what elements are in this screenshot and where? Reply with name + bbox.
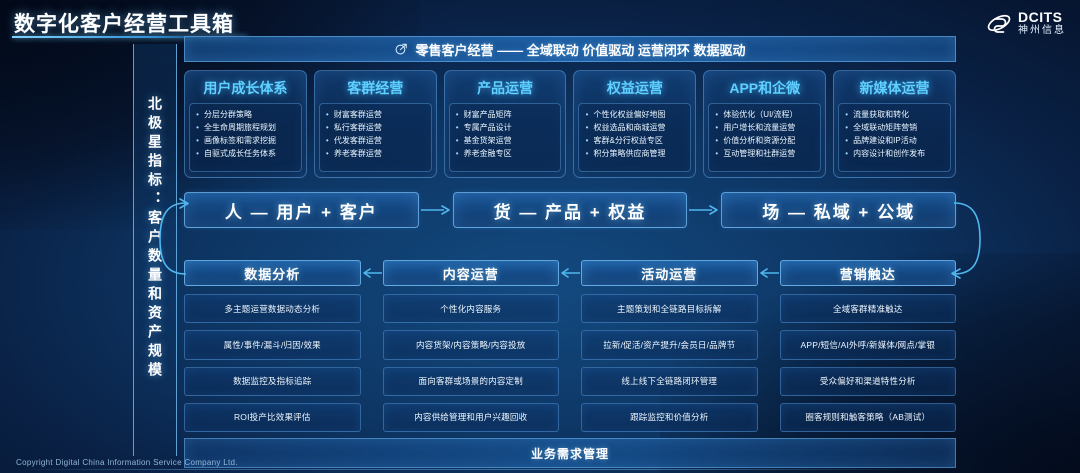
pillar-box[interactable]: 货 — 产品 + 权益	[453, 192, 688, 228]
bottom-bar-label: 业务需求管理	[531, 445, 609, 462]
category-card-item-label: 画像标签和需求挖掘	[204, 134, 276, 147]
bullet-dot-icon: •	[583, 121, 590, 134]
category-card[interactable]: APP和企微•体验优化（UI/流程）•用户增长和流量运营•价值分析和资源分配•互…	[703, 70, 826, 178]
category-card-item: •体验优化（UI/流程）	[713, 108, 817, 121]
dcits-swirl-icon	[986, 12, 1012, 34]
headline-banner-text: 零售客户经营 —— 全域联动 价值驱动 运营闭环 数据驱动	[415, 40, 745, 59]
category-card-item-label: 品牌建设和IP活动	[853, 134, 917, 147]
logo-subtitle: 神州信息	[1018, 26, 1066, 36]
operation-detail-cell[interactable]: 个性化内容服务	[383, 294, 560, 323]
operation-detail-cell[interactable]: 属性/事件/漏斗/归因/效果	[184, 330, 361, 359]
bullet-dot-icon: •	[324, 121, 331, 134]
category-card-title: APP和企微	[708, 75, 821, 103]
category-card-item: •私行客群运营	[324, 121, 428, 134]
category-card-items: •个性化权益偏好地图•权益选品和商城运营•客群&分行权益专区•积分策略供应商管理	[578, 103, 691, 172]
category-card-title: 新媒体运营	[838, 75, 951, 103]
bullet-dot-icon: •	[843, 134, 850, 147]
bullet-dot-icon: •	[583, 147, 590, 160]
category-card-item: •积分策略供应商管理	[583, 147, 687, 160]
category-card-item-label: 流量获取和转化	[853, 108, 909, 121]
category-card-items: •财富产品矩阵•专属产品设计•基金货架运营•养老金融专区	[449, 103, 562, 172]
category-card-item-label: 个性化权益偏好地图	[593, 108, 665, 121]
arrow-left-icon	[758, 260, 780, 286]
operation-detail-grid: 多主题运营数据动态分析属性/事件/漏斗/归因/效果数据监控及指标追踪ROI投产比…	[184, 294, 956, 432]
brand-logo: DCITS 神州信息	[986, 10, 1066, 36]
category-card-item-label: 财富客群运营	[334, 108, 382, 121]
category-card-item: •全域联动矩阵营销	[843, 121, 947, 134]
operation-detail-cell[interactable]: 拉新/促活/资产提升/会员日/品牌节	[581, 330, 758, 359]
category-card-item: •自驱式成长任务体系	[194, 147, 298, 160]
operation-detail-cell[interactable]: 面向客群或场景的内容定制	[383, 367, 560, 396]
category-card[interactable]: 权益运营•个性化权益偏好地图•权益选品和商城运营•客群&分行权益专区•积分策略供…	[573, 70, 696, 178]
category-card-items: •流量获取和转化•全域联动矩阵营销•品牌建设和IP活动•内容设计和创作发布	[838, 103, 951, 172]
headline-banner: 零售客户经营 —— 全域联动 价值驱动 运营闭环 数据驱动	[184, 36, 956, 62]
bullet-dot-icon: •	[843, 108, 850, 121]
bullet-dot-icon: •	[324, 147, 331, 160]
bullet-dot-icon: •	[713, 108, 720, 121]
category-card-items: •分层分群策略•全生命周期旅程规划•画像标签和需求挖掘•自驱式成长任务体系	[189, 103, 302, 172]
category-card-item: •画像标签和需求挖掘	[194, 134, 298, 147]
bullet-dot-icon: •	[713, 134, 720, 147]
pillar-row: 人 — 用户 + 客户货 — 产品 + 权益场 — 私域 + 公域	[184, 192, 956, 228]
category-card-item: •财富产品矩阵	[454, 108, 558, 121]
category-card-item: •用户增长和流量运营	[713, 121, 817, 134]
operation-detail-cell[interactable]: ROI投产比效果评估	[184, 403, 361, 432]
operation-header-box[interactable]: 数据分析	[184, 260, 361, 286]
category-card[interactable]: 产品运营•财富产品矩阵•专属产品设计•基金货架运营•养老金融专区	[444, 70, 567, 178]
category-card-item: •流量获取和转化	[843, 108, 947, 121]
category-card-title: 客群经营	[319, 75, 432, 103]
footer-divider	[14, 469, 924, 470]
operation-detail-column: 主题策划和全链路目标拆解拉新/促活/资产提升/会员日/品牌节线上线下全链路闭环管…	[581, 294, 758, 432]
category-card-item: •互动管理和社群运营	[713, 147, 817, 160]
operation-header-box[interactable]: 内容运营	[383, 260, 560, 286]
bullet-dot-icon: •	[194, 147, 201, 160]
bullet-dot-icon: •	[843, 147, 850, 160]
category-card[interactable]: 用户成长体系•分层分群策略•全生命周期旅程规划•画像标签和需求挖掘•自驱式成长任…	[184, 70, 307, 178]
operation-detail-cell[interactable]: 全域客群精准触达	[780, 294, 957, 323]
bullet-dot-icon: •	[194, 134, 201, 147]
category-card-item: •代发客群运营	[324, 134, 428, 147]
operation-detail-column: 个性化内容服务内容货架/内容策略/内容投放面向客群或场景的内容定制内容供给管理和…	[383, 294, 560, 432]
category-card-item-label: 用户增长和流量运营	[723, 121, 795, 134]
bullet-dot-icon: •	[324, 108, 331, 121]
operation-detail-column: 多主题运营数据动态分析属性/事件/漏斗/归因/效果数据监控及指标追踪ROI投产比…	[184, 294, 361, 432]
pillar-box[interactable]: 场 — 私域 + 公域	[721, 192, 956, 228]
category-card-item-label: 财富产品矩阵	[464, 108, 512, 121]
category-card-item-label: 养老金融专区	[464, 147, 512, 160]
logo-wordmark: DCITS	[1018, 10, 1066, 24]
arrow-left-icon	[361, 260, 383, 286]
category-card-item-label: 权益选品和商城运营	[593, 121, 665, 134]
operation-header-box[interactable]: 营销触达	[780, 260, 957, 286]
bullet-dot-icon: •	[194, 121, 201, 134]
arrow-left-icon	[559, 260, 581, 286]
category-card-item-label: 私行客群运营	[334, 121, 382, 134]
operation-detail-cell[interactable]: 跟踪监控和价值分析	[581, 403, 758, 432]
category-card-item: •内容设计和创作发布	[843, 147, 947, 160]
north-star-axis-label: 北极星指标：客户数量和资产规模	[138, 96, 172, 381]
operation-detail-cell[interactable]: 数据监控及指标追踪	[184, 367, 361, 396]
category-card-item-label: 专属产品设计	[464, 121, 512, 134]
target-arrow-icon	[394, 42, 408, 56]
bullet-dot-icon: •	[454, 134, 461, 147]
bullet-dot-icon: •	[454, 147, 461, 160]
category-card-item: •专属产品设计	[454, 121, 558, 134]
bullet-dot-icon: •	[713, 147, 720, 160]
category-card[interactable]: 客群经营•财富客群运营•私行客群运营•代发客群运营•养老客群运营	[314, 70, 437, 178]
category-card-item-label: 客群&分行权益专区	[593, 134, 662, 147]
category-card[interactable]: 新媒体运营•流量获取和转化•全域联动矩阵营销•品牌建设和IP活动•内容设计和创作…	[833, 70, 956, 178]
operation-detail-cell[interactable]: 圈客规则和触客策略（AB测试）	[780, 403, 957, 432]
category-card-item: •养老金融专区	[454, 147, 558, 160]
category-card-items: •财富客群运营•私行客群运营•代发客群运营•养老客群运营	[319, 103, 432, 172]
bullet-dot-icon: •	[713, 121, 720, 134]
category-card-item: •权益选品和商城运营	[583, 121, 687, 134]
category-card-item: •养老客群运营	[324, 147, 428, 160]
operation-detail-cell[interactable]: 受众偏好和渠道特性分析	[780, 367, 957, 396]
operation-detail-cell[interactable]: 线上线下全链路闭环管理	[581, 367, 758, 396]
operation-detail-cell[interactable]: 多主题运营数据动态分析	[184, 294, 361, 323]
bullet-dot-icon: •	[583, 134, 590, 147]
operation-detail-cell[interactable]: 内容货架/内容策略/内容投放	[383, 330, 560, 359]
category-card-item-label: 全生命周期旅程规划	[204, 121, 276, 134]
category-card-item-label: 全域联动矩阵营销	[853, 121, 917, 134]
bullet-dot-icon: •	[454, 108, 461, 121]
category-card-title: 产品运营	[449, 75, 562, 103]
bullet-dot-icon: •	[454, 121, 461, 134]
category-card-item-label: 积分策略供应商管理	[593, 147, 665, 160]
operation-detail-column: 全域客群精准触达APP/短信/AI外呼/新媒体/网点/掌银受众偏好和渠道特性分析…	[780, 294, 957, 432]
category-card-item: •财富客群运营	[324, 108, 428, 121]
bottom-bar: 业务需求管理	[184, 438, 956, 468]
arrow-right-icon	[687, 192, 721, 228]
category-card-item-label: 体验优化（UI/流程）	[723, 108, 797, 121]
bullet-dot-icon: •	[843, 121, 850, 134]
operation-detail-cell[interactable]: 主题策划和全链路目标拆解	[581, 294, 758, 323]
operation-detail-cell[interactable]: APP/短信/AI外呼/新媒体/网点/掌银	[780, 330, 957, 359]
copyright-text: Copyright Digital China Information Serv…	[16, 458, 238, 467]
category-card-item-label: 基金货架运营	[464, 134, 512, 147]
category-card-row: 用户成长体系•分层分群策略•全生命周期旅程规划•画像标签和需求挖掘•自驱式成长任…	[184, 70, 956, 178]
category-card-item: •基金货架运营	[454, 134, 558, 147]
pillar-box[interactable]: 人 — 用户 + 客户	[184, 192, 419, 228]
category-card-item: •客群&分行权益专区	[583, 134, 687, 147]
category-card-item-label: 自驱式成长任务体系	[204, 147, 276, 160]
category-card-item: •价值分析和资源分配	[713, 134, 817, 147]
category-card-item: •品牌建设和IP活动	[843, 134, 947, 147]
category-card-item-label: 价值分析和资源分配	[723, 134, 795, 147]
operation-detail-cell[interactable]: 内容供给管理和用户兴趣回收	[383, 403, 560, 432]
category-card-item-label: 养老客群运营	[334, 147, 382, 160]
category-card-item-label: 代发客群运营	[334, 134, 382, 147]
category-card-item: •分层分群策略	[194, 108, 298, 121]
category-card-item-label: 互动管理和社群运营	[723, 147, 795, 160]
bullet-dot-icon: •	[194, 108, 201, 121]
bullet-dot-icon: •	[324, 134, 331, 147]
operation-header-row: 数据分析内容运营活动运营营销触达	[184, 260, 956, 286]
category-card-item-label: 内容设计和创作发布	[853, 147, 925, 160]
category-card-item: •全生命周期旅程规划	[194, 121, 298, 134]
page-title: 数字化客户经营工具箱	[14, 8, 234, 38]
category-card-title: 用户成长体系	[189, 75, 302, 103]
arrow-right-icon	[419, 192, 453, 228]
category-card-title: 权益运营	[578, 75, 691, 103]
bullet-dot-icon: •	[583, 108, 590, 121]
category-card-items: •体验优化（UI/流程）•用户增长和流量运营•价值分析和资源分配•互动管理和社群…	[708, 103, 821, 172]
operation-header-box[interactable]: 活动运营	[581, 260, 758, 286]
category-card-item: •个性化权益偏好地图	[583, 108, 687, 121]
category-card-item-label: 分层分群策略	[204, 108, 252, 121]
